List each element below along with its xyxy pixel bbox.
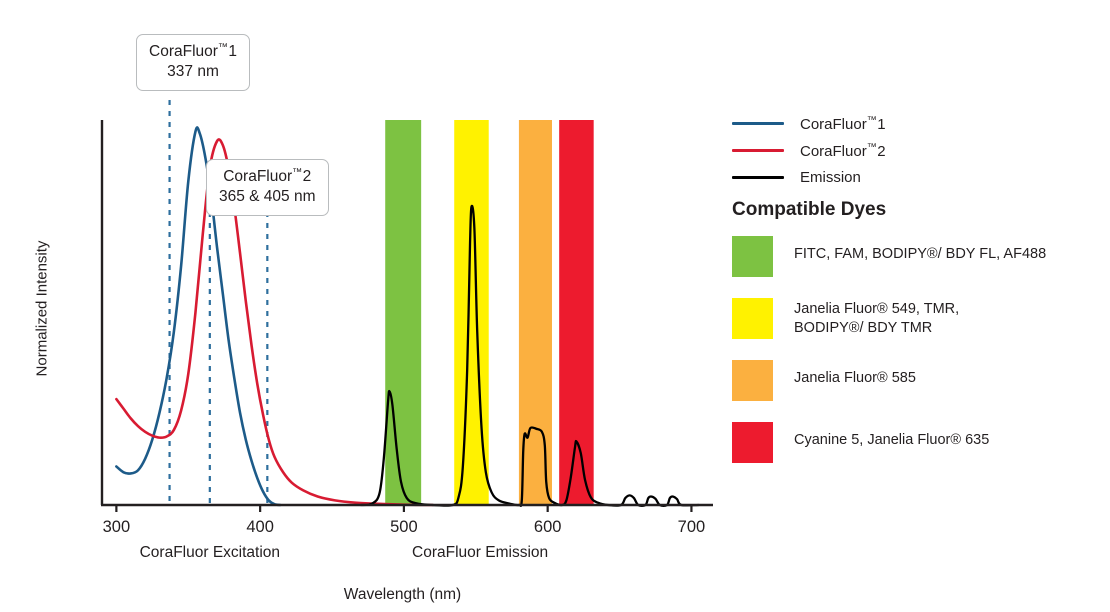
excitation-region-label: CoraFluor Excitation	[140, 544, 280, 561]
legend-item-corafluor2: CoraFluor™2	[732, 137, 1092, 164]
callout-1-line1: CoraFluor™1	[149, 42, 237, 62]
dye-label-green: FITC, FAM, BODIPY®/ BDY FL, AF488	[794, 236, 1046, 264]
x-tick-label-600: 600	[534, 518, 562, 536]
compatible-dyes-list: FITC, FAM, BODIPY®/ BDY FL, AF488 Janeli…	[732, 236, 1106, 484]
side-panel: CoraFluor™1 CoraFluor™2 Emission Compati…	[728, 0, 1110, 612]
plot-area: 300400500600700CoraFluor ExcitationCoraF…	[0, 0, 730, 612]
spectral-chart-figure: 300400500600700CoraFluor ExcitationCoraF…	[0, 0, 1110, 612]
legend-item-corafluor1: CoraFluor™1	[732, 110, 1092, 137]
dye-label-red: Cyanine 5, Janelia Fluor® 635	[794, 422, 989, 450]
dye-color-swatch-yellow	[732, 298, 773, 339]
series-legend: CoraFluor™1 CoraFluor™2 Emission	[732, 110, 1092, 191]
legend-line-swatch-emission	[732, 176, 784, 179]
legend-item-emission: Emission	[732, 164, 1092, 191]
callout-corafluor1: CoraFluor™1 337 nm	[136, 34, 250, 91]
callout-2-line1: CoraFluor™2	[219, 167, 316, 187]
red-band	[559, 120, 594, 505]
dye-row-yellow: Janelia Fluor® 549, TMR,BODIPY®/ BDY TMR	[732, 298, 1106, 339]
compatible-dyes-title: Compatible Dyes	[732, 199, 886, 221]
y-axis-label: Normalized Intensity	[34, 234, 51, 384]
x-tick-label-400: 400	[246, 518, 274, 536]
dye-label-orange: Janelia Fluor® 585	[794, 360, 916, 388]
dye-color-swatch-green	[732, 236, 773, 277]
legend-line-swatch-corafluor1	[732, 122, 784, 125]
dye-color-swatch-red	[732, 422, 773, 463]
callout-2-line2: 365 & 405 nm	[219, 187, 316, 207]
legend-label-emission: Emission	[800, 169, 861, 186]
emission-region-label: CoraFluor Emission	[412, 544, 548, 561]
dye-color-swatch-orange	[732, 360, 773, 401]
dye-row-red: Cyanine 5, Janelia Fluor® 635	[732, 422, 1106, 463]
dye-row-green: FITC, FAM, BODIPY®/ BDY FL, AF488	[732, 236, 1106, 277]
x-tick-label-700: 700	[678, 518, 706, 536]
spectra-svg: 300400500600700CoraFluor ExcitationCoraF…	[0, 0, 730, 612]
x-tick-label-500: 500	[390, 518, 418, 536]
legend-label-corafluor2: CoraFluor™2	[800, 142, 886, 160]
legend-label-corafluor1: CoraFluor™1	[800, 115, 886, 133]
callout-1-line2: 337 nm	[149, 62, 237, 82]
legend-line-swatch-corafluor2	[732, 149, 784, 152]
dye-row-orange: Janelia Fluor® 585	[732, 360, 1106, 401]
x-tick-label-300: 300	[103, 518, 131, 536]
callout-corafluor2: CoraFluor™2 365 & 405 nm	[206, 159, 329, 216]
green-band	[385, 120, 421, 505]
x-axis-label: Wavelength (nm)	[344, 586, 461, 603]
dye-label-yellow: Janelia Fluor® 549, TMR,BODIPY®/ BDY TMR	[794, 298, 959, 339]
